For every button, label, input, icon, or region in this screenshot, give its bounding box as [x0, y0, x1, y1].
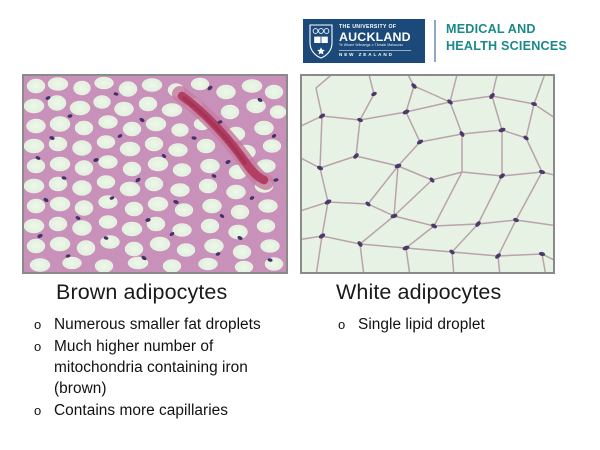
faculty-line-2: HEALTH SCIENCES: [446, 38, 567, 55]
list-item: o Much higher number of mitochondria con…: [32, 336, 282, 399]
list-item-label: Much higher number of mitochondria conta…: [54, 336, 282, 399]
bullet-marker-icon: o: [32, 336, 54, 357]
bullet-marker-icon: o: [32, 314, 54, 335]
list-item-label: Contains more capillaries: [54, 400, 228, 421]
logo-wordmark: THE UNIVERSITY OF AUCKLAND Te Whare Wāna…: [339, 25, 411, 58]
list-item-label: Single lipid droplet: [358, 314, 485, 335]
white-adipocyte-feature-list: o Single lipid droplet: [336, 314, 566, 336]
list-item: o Contains more capillaries: [32, 400, 282, 421]
list-item-label: Numerous smaller fat droplets: [54, 314, 261, 335]
logo-line-maori: Te Whare Wānanga o Tāmaki Makaurau: [339, 44, 411, 47]
white-adipose-micrograph: [300, 74, 555, 274]
brown-adipose-micrograph: [22, 74, 288, 274]
branding-header: THE UNIVERSITY OF AUCKLAND Te Whare Wāna…: [303, 19, 567, 63]
faculty-name: MEDICAL AND HEALTH SCIENCES: [446, 21, 567, 54]
slide: THE UNIVERSITY OF AUCKLAND Te Whare Wāna…: [0, 0, 600, 450]
university-crest-icon: [308, 23, 334, 59]
list-item: o Numerous smaller fat droplets: [32, 314, 282, 335]
caption-white-adipocytes: White adipocytes: [336, 280, 501, 305]
faculty-line-1: MEDICAL AND: [446, 21, 567, 38]
university-of-auckland-logo: THE UNIVERSITY OF AUCKLAND Te Whare Wāna…: [303, 19, 425, 63]
logo-line-auckland: AUCKLAND: [339, 31, 411, 43]
bullet-marker-icon: o: [336, 314, 358, 335]
bullet-marker-icon: o: [32, 400, 54, 421]
list-item: o Single lipid droplet: [336, 314, 566, 335]
brand-divider: [434, 20, 436, 62]
brown-adipocyte-feature-list: o Numerous smaller fat droplets o Much h…: [32, 314, 282, 422]
logo-line-new-zealand: NEW ZEALAND: [339, 50, 411, 57]
caption-brown-adipocytes: Brown adipocytes: [56, 280, 227, 305]
